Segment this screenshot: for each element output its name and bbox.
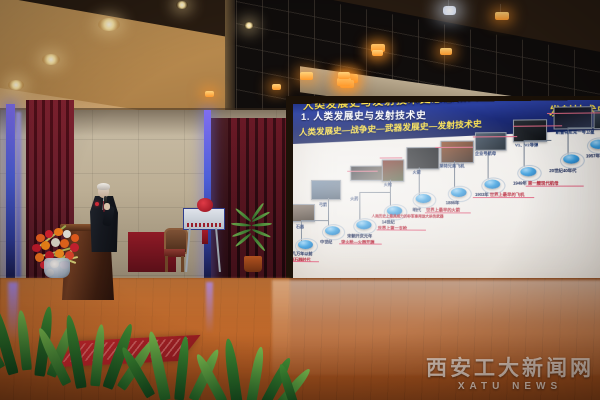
plant-leaf [16,310,32,371]
timeline-node-label: 中世纪 [320,239,332,245]
watermark: 西安工大新闻网 XATU NEWS [426,358,594,392]
chair-leg [165,256,168,272]
plant-leaf [223,338,243,400]
slide-underline [473,197,534,198]
watermark-chinese: 西安工大新闻网 [426,358,594,380]
plant-pot [244,256,262,272]
slide-thumbnail [440,141,473,164]
flower-bloom [71,234,79,242]
slide-underline [293,261,319,262]
timeline-node-caption: 弓箭 [319,202,327,208]
timeline-node-label: 明代 [413,207,421,213]
slide-underline [380,157,403,158]
slide-thumbnail [311,180,341,200]
led-light-strip [6,104,15,284]
timeline-connector [328,198,329,226]
plant-leaf [174,336,191,400]
slide-thumbnail [406,147,439,170]
timeline-node [356,220,371,229]
speaker-hand [104,203,110,210]
lecture-hall-photo: 人类发展史与发射技术史息息相关 1. 人类发展史与发射技术史 发射技术史 人类发… [0,0,600,400]
timeline-node [416,194,432,203]
stage-spotlight-icon [338,72,350,79]
timeline-node [563,154,579,163]
timeline-node-caption: 斯普特尼克一号卫星 [556,129,595,136]
downlight-icon [8,80,24,90]
slide-thumbnail [350,166,385,181]
stage-spotlight-icon [300,72,313,80]
plant-leaf [246,346,266,400]
stage-spotlight-icon [337,78,351,86]
slide-thumbnail [513,119,547,142]
timeline-node-label: 20世纪40年代 [549,168,576,174]
timeline-node-caption: 莱特兄弟飞机 [439,163,464,169]
flower-bloom [54,228,63,236]
easel-leg [185,228,191,272]
timeline-node-caption: 火枪 [384,182,392,188]
stage-spotlight-icon [372,50,383,56]
timeline-node-caption: 火箭 [413,170,421,176]
slide-underline [425,212,471,213]
timeline-node [520,167,536,176]
timeline-connector [359,192,360,220]
timeline-connector [524,140,552,141]
downlight-icon [244,22,254,29]
flower-bloom [55,249,64,258]
downlight-icon [98,18,120,31]
flower-bloom [51,238,60,247]
timeline-node-caption: V1、V2导弹 [515,142,538,148]
flower-bloom [41,241,50,250]
slide-title-number: 1. [301,112,310,123]
timeline-node [325,226,340,235]
sign-board-text [187,223,221,227]
speaker-lapel-badge [95,202,99,206]
timeline-node-caption: 企业号航母 [475,151,496,157]
flower-vase [44,258,70,278]
white-spotlight-icon [443,6,456,15]
palm-frond [252,222,272,227]
timeline-node-caption: 石器 [296,224,304,230]
speaker-hair [97,183,110,190]
palm-frond [231,222,251,227]
slide-underline [347,171,377,172]
flower-bloom [32,244,41,252]
timeline-connector [359,192,390,193]
timeline-node [451,188,467,197]
timeline-node-label: 1886年 [446,200,460,206]
foreground-plants [0,300,320,400]
downlight-icon [42,54,60,65]
slide-underline [473,136,517,137]
sign-flower-decoration [197,198,213,212]
timeline-node [298,240,313,249]
easel-leg [215,228,221,272]
palm-frond [251,235,266,252]
stage-spotlight-icon [272,84,281,90]
sign-easel [183,200,223,272]
projection-screen: 人类发展史与发射技术史息息相关 1. 人类发展史与发射技术史 发射技术史 人类发… [293,100,600,293]
timeline-connector [301,220,329,221]
led-light-strip-inner [16,112,21,277]
slide-underline [526,186,584,187]
timeline-node-label: 1957年 [586,153,600,159]
potted-palm [230,206,274,276]
plant-leaf [90,324,106,387]
slide-footnote: 人类历史上最具威力的非军事用途大杀伤武器 [372,214,444,219]
stage-spotlight-icon [495,12,509,20]
slide-thumbnail [382,159,405,181]
flower-bloom [45,230,53,238]
flower-bloom [60,239,69,248]
watermark-english: XATU NEWS [426,381,594,392]
timeline-node-caption: 火药 [350,196,358,202]
timeline-node [484,180,500,189]
downlight-icon [176,1,188,9]
palm-frond [235,207,252,222]
slide-thumbnail [475,132,507,151]
timeline-node [590,139,600,149]
stage-spotlight-icon [440,48,452,55]
stage-spotlight-icon [205,91,214,97]
flower-bloom [63,230,71,238]
